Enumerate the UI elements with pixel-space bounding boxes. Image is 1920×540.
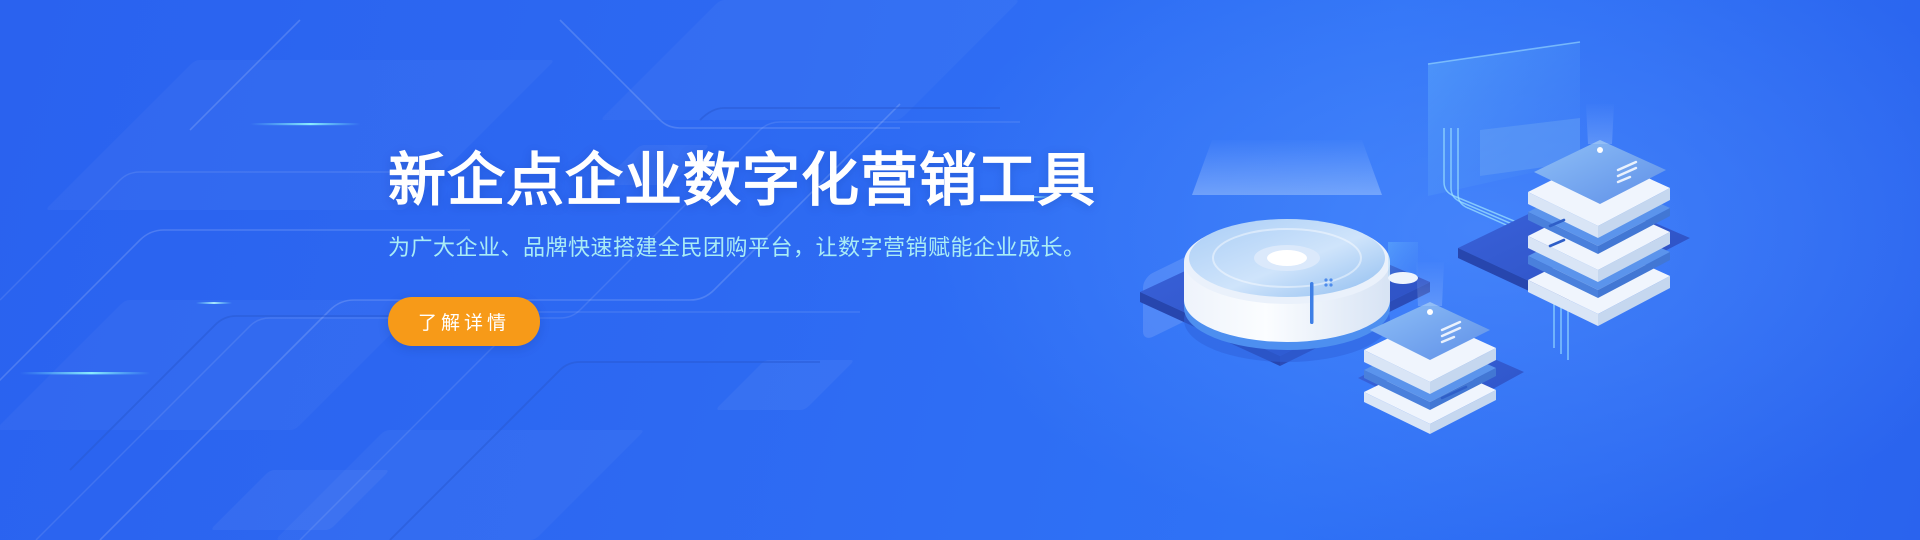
page-title: 新企点企业数字化营销工具 bbox=[388, 150, 1148, 211]
light-beam bbox=[1192, 140, 1382, 195]
cylinder-device bbox=[1184, 219, 1390, 362]
page-subtitle: 为广大企业、品牌快速搭建全民团购平台，让数字营销赋能企业成长。 bbox=[388, 233, 1148, 263]
bg-plate-4 bbox=[600, 0, 1020, 120]
hero-content: 新企点企业数字化营销工具 为广大企业、品牌快速搭建全民团购平台，让数字营销赋能企… bbox=[388, 150, 1148, 346]
learn-more-button[interactable]: 了解详情 bbox=[388, 297, 540, 346]
bg-plate-2 bbox=[0, 300, 425, 430]
isometric-illustration bbox=[1130, 30, 1690, 430]
small-cylinder bbox=[1388, 242, 1418, 284]
bg-plate-6 bbox=[715, 360, 855, 410]
hero-banner: ¥ bbox=[0, 0, 1920, 540]
